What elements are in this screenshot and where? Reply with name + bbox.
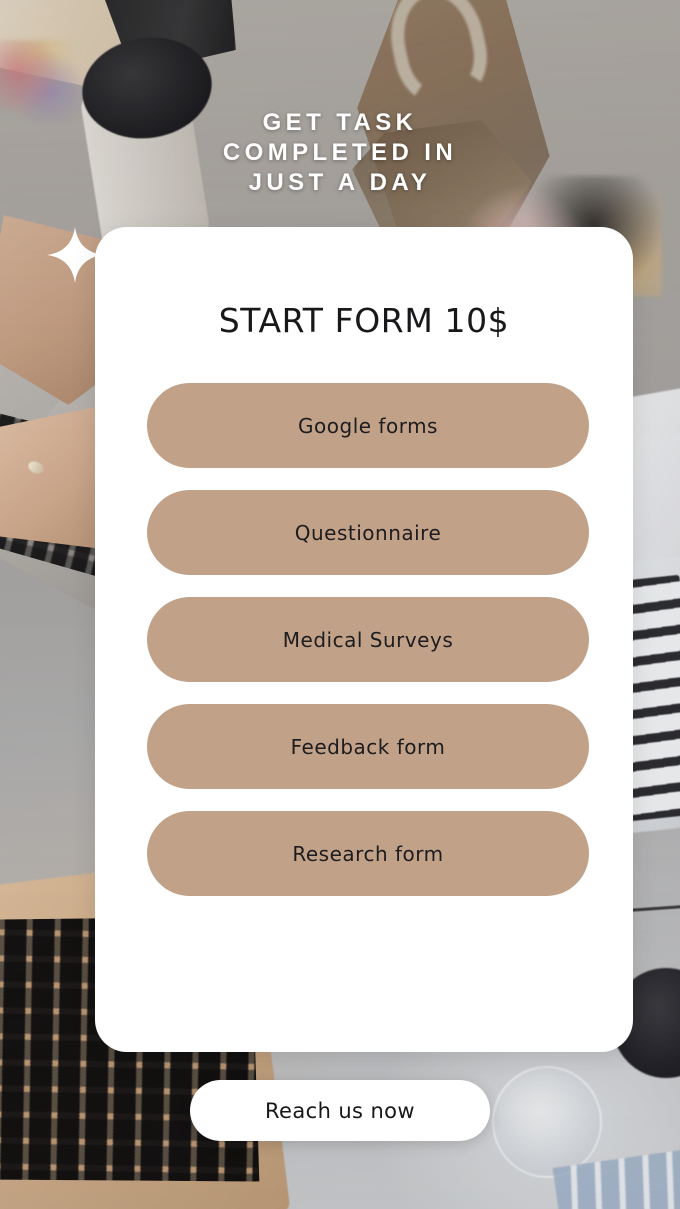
options-list: Google forms Questionnaire Medical Surve… (147, 383, 589, 896)
option-feedback-form[interactable]: Feedback form (147, 704, 589, 789)
option-research-form[interactable]: Research form (147, 811, 589, 896)
option-label: Google forms (298, 414, 438, 438)
page-title: START FORM 10$ (95, 301, 633, 340)
reach-us-now-button[interactable]: Reach us now (190, 1080, 490, 1141)
option-medical-surveys[interactable]: Medical Surveys (147, 597, 589, 682)
headline-line-2: COMPLETED IN (0, 138, 680, 168)
option-label: Medical Surveys (283, 628, 453, 652)
option-label: Questionnaire (295, 521, 442, 545)
headline: GET TASK COMPLETED IN JUST A DAY (0, 108, 680, 198)
offer-card: START FORM 10$ Google forms Questionnair… (95, 227, 633, 1052)
option-google-forms[interactable]: Google forms (147, 383, 589, 468)
headline-line-3: JUST A DAY (0, 168, 680, 198)
option-label: Feedback form (291, 735, 446, 759)
headline-line-1: GET TASK (0, 108, 680, 138)
option-questionnaire[interactable]: Questionnaire (147, 490, 589, 575)
story-canvas: GET TASK COMPLETED IN JUST A DAY START F… (0, 0, 680, 1209)
option-label: Research form (292, 842, 443, 866)
cta-label: Reach us now (265, 1099, 415, 1123)
